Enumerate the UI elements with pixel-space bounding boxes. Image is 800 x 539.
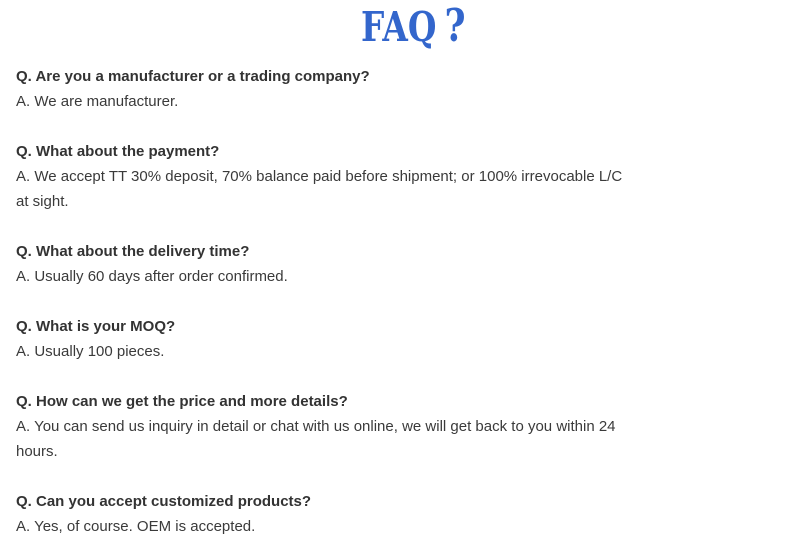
faq-list: Q. Are you a manufacturer or a trading c… xyxy=(16,64,792,539)
question-mark-glyph: ? xyxy=(444,0,465,52)
faq-item: Q. What is your MOQ? A. Usually 100 piec… xyxy=(16,314,792,364)
faq-title-word: FAQ xyxy=(361,3,436,51)
faq-answer: A. Usually 60 days after order confirmed… xyxy=(16,264,792,289)
faq-question: Q. What about the payment? xyxy=(16,139,792,164)
faq-question: Q. Are you a manufacturer or a trading c… xyxy=(16,64,792,89)
faq-item: Q. What about the delivery time? A. Usua… xyxy=(16,239,792,289)
faq-item: Q. Can you accept customized products? A… xyxy=(16,489,792,539)
faq-answer: A. Usually 100 pieces. xyxy=(16,339,792,364)
page-title: FAQ? xyxy=(0,2,800,51)
faq-item: Q. What about the payment? A. We accept … xyxy=(16,139,792,214)
faq-answer: A. You can send us inquiry in detail or … xyxy=(16,414,792,464)
faq-answer: A. We are manufacturer. xyxy=(16,89,792,114)
faq-question: Q. What is your MOQ? xyxy=(16,314,792,339)
faq-item: Q. Are you a manufacturer or a trading c… xyxy=(16,64,792,114)
faq-item: Q. How can we get the price and more det… xyxy=(16,389,792,464)
faq-answer: A. We accept TT 30% deposit, 70% balance… xyxy=(16,164,792,214)
faq-answer: A. Yes, of course. OEM is accepted. xyxy=(16,514,792,539)
faq-title-text: FAQ? xyxy=(361,2,465,51)
faq-question: Q. How can we get the price and more det… xyxy=(16,389,792,414)
faq-question: Q. Can you accept customized products? xyxy=(16,489,792,514)
faq-page: FAQ? Q. Are you a manufacturer or a trad… xyxy=(0,0,800,525)
faq-question: Q. What about the delivery time? xyxy=(16,239,792,264)
